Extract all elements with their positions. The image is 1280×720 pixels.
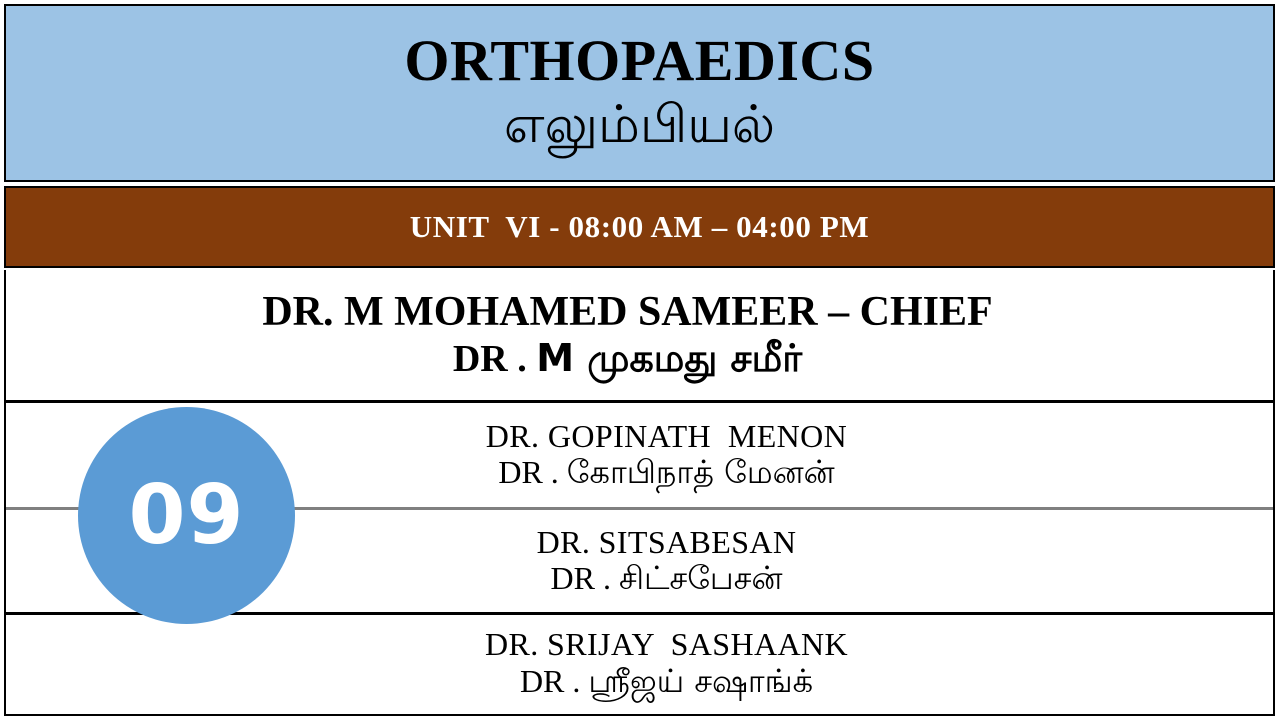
table-row: DR. SRIJAY SASHAANK DR . ஸ்ரீஜய் சஷாங்க்: [6, 615, 1273, 712]
row-content: DR. M MOHAMED SAMEER – CHIEF DR . M முகம…: [0, 290, 1261, 381]
orthopaedics-unit-slide: ORTHOPAEDICS எலும்பியல் UNIT VI - 08:00 …: [0, 0, 1280, 720]
doctor-name-tamil: DR . M முகமது சமீர்: [453, 338, 802, 381]
unit-timing-text: UNIT VI - 08:00 AM – 04:00 PM: [410, 209, 869, 245]
doctor-name-tamil-text: M முகமது சமீர்: [536, 336, 802, 380]
page-title-tamil: எலும்பியல்: [504, 96, 775, 154]
doctor-title-prefix: DR .: [551, 560, 619, 596]
doctor-title-prefix: DR .: [520, 663, 588, 699]
doctor-name-tamil: DR . சிட்சபேசன்: [551, 561, 783, 596]
doctor-name-tamil-text: கோபிநாத் மேனன்: [567, 453, 835, 491]
doctor-title-prefix: DR .: [498, 454, 566, 490]
doctor-name-tamil-text: சிட்சபேசன்: [619, 559, 783, 597]
doctor-name-english: DR. M MOHAMED SAMEER – CHIEF: [262, 290, 992, 334]
unit-timing-band: UNIT VI - 08:00 AM – 04:00 PM: [4, 186, 1275, 268]
row-content: DR. SRIJAY SASHAANK DR . ஸ்ரீஜய் சஷாங்க்: [33, 628, 1280, 699]
doctor-name-tamil: DR . கோபிநாத் மேனன்: [498, 455, 834, 490]
page-title: ORTHOPAEDICS: [404, 32, 874, 90]
doctor-name-tamil-text: ஸ்ரீஜய் சஷாங்க்: [588, 662, 813, 700]
unit-number-text: 09: [128, 475, 244, 557]
unit-number-badge: 09: [78, 407, 295, 624]
doctor-name-english: DR. GOPINATH MENON: [486, 420, 847, 454]
doctor-name-english: DR. SRIJAY SASHAANK: [485, 628, 848, 662]
doctor-title-prefix: DR .: [453, 338, 536, 380]
table-row-chief: DR. M MOHAMED SAMEER – CHIEF DR . M முகம…: [6, 270, 1273, 403]
department-header: ORTHOPAEDICS எலும்பியல்: [4, 4, 1275, 182]
doctor-name-tamil: DR . ஸ்ரீஜய் சஷாங்க்: [520, 664, 813, 699]
doctor-name-english: DR. SITSABESAN: [537, 526, 797, 560]
